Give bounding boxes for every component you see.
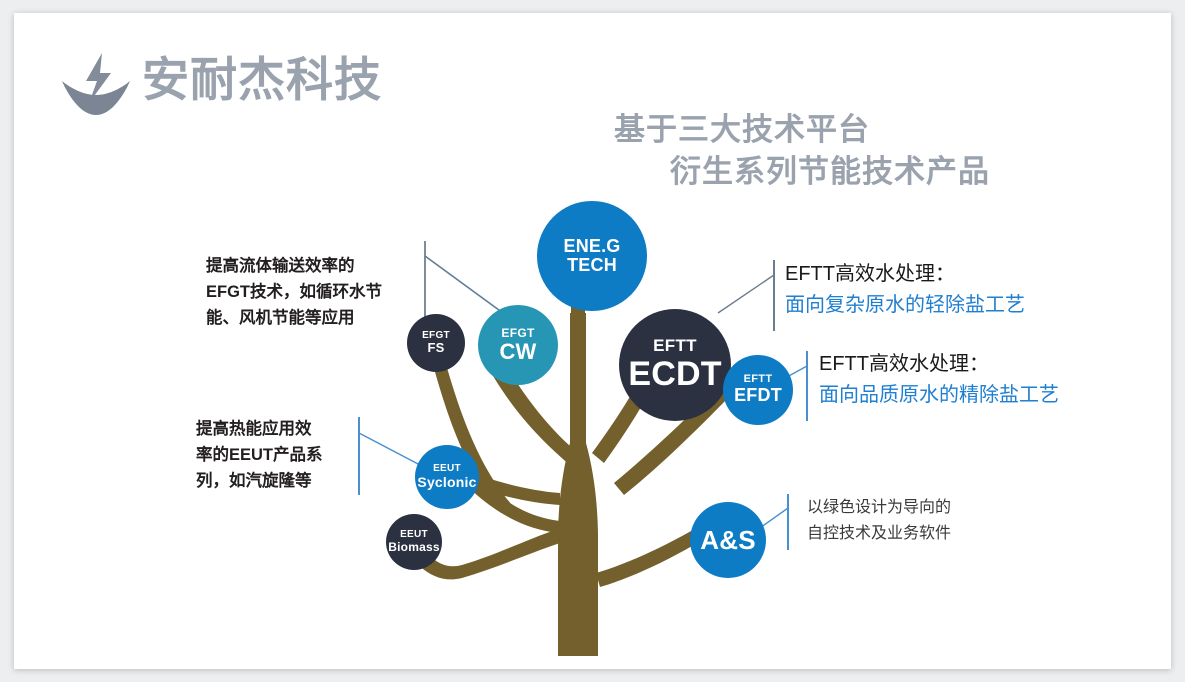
node-main-label: FS bbox=[427, 341, 444, 355]
callout-line: 能、风机节能等应用 bbox=[206, 305, 426, 331]
callout-line: 自控技术及业务软件 bbox=[807, 521, 1037, 547]
callout-line: 提高流体输送效率的 bbox=[206, 253, 426, 279]
callout-eftt-fine: EFTT高效水处理： 面向品质原水的精除盐工艺 bbox=[819, 349, 1185, 411]
callout-title: EFTT高效水处理： bbox=[785, 259, 1165, 290]
callout-body: 面向品质原水的精除盐工艺 bbox=[819, 380, 1185, 411]
callout-line: 以绿色设计为导向的 bbox=[807, 495, 1037, 521]
callout-line: EFGT技术，如循环水节 bbox=[206, 279, 426, 305]
slide-canvas: 安耐杰科技 基于三大技术平台 衍生系列节能技术产品 bbox=[0, 0, 1185, 682]
node-main-label: EFDT bbox=[734, 386, 782, 405]
tree-diagram bbox=[14, 13, 1171, 669]
node-main-label: Syclonic bbox=[417, 475, 476, 490]
tech-node-eeut-biomass[interactable]: EEUT Biomass bbox=[386, 514, 442, 570]
callout-eftt-light: EFTT高效水处理： 面向复杂原水的轻除盐工艺 bbox=[785, 259, 1165, 321]
node-main-label: CW bbox=[499, 340, 536, 364]
tech-node-a-and-s[interactable]: A&S bbox=[690, 502, 766, 578]
callout-title: EFTT高效水处理： bbox=[819, 349, 1185, 380]
tech-node-eftt-efdt[interactable]: EFTT EFDT bbox=[723, 355, 793, 425]
node-main-label: ECDT bbox=[628, 356, 721, 393]
node-sub-label: EFTT bbox=[653, 337, 697, 355]
callout-line: 提高热能应用效 bbox=[196, 416, 371, 442]
tech-node-ecdt[interactable]: EFTT ECDT bbox=[619, 309, 731, 421]
tech-node-eeut-syclonic[interactable]: EEUT Syclonic bbox=[415, 445, 479, 509]
presentation-slide: 安耐杰科技 基于三大技术平台 衍生系列节能技术产品 bbox=[14, 13, 1171, 669]
callout-line: 列，如汽旋隆等 bbox=[196, 468, 371, 494]
callout-eeut: 提高热能应用效 率的EEUT产品系 列，如汽旋隆等 bbox=[196, 416, 371, 494]
callout-line: 率的EEUT产品系 bbox=[196, 442, 371, 468]
node-main-label: A&S bbox=[700, 526, 756, 554]
node-main-label: ENE.G TECH bbox=[537, 237, 647, 276]
tech-node-ene-g-tech[interactable]: ENE.G TECH bbox=[537, 201, 647, 311]
node-main-label: Biomass bbox=[388, 541, 439, 554]
callout-efgt: 提高流体输送效率的 EFGT技术，如循环水节 能、风机节能等应用 bbox=[206, 253, 426, 331]
node-sub-label: EFGT bbox=[501, 327, 534, 340]
tech-node-efgt-cw[interactable]: EFGT CW bbox=[478, 305, 558, 385]
callout-body: 面向复杂原水的轻除盐工艺 bbox=[785, 290, 1165, 321]
callout-as: 以绿色设计为导向的 自控技术及业务软件 bbox=[807, 495, 1037, 547]
